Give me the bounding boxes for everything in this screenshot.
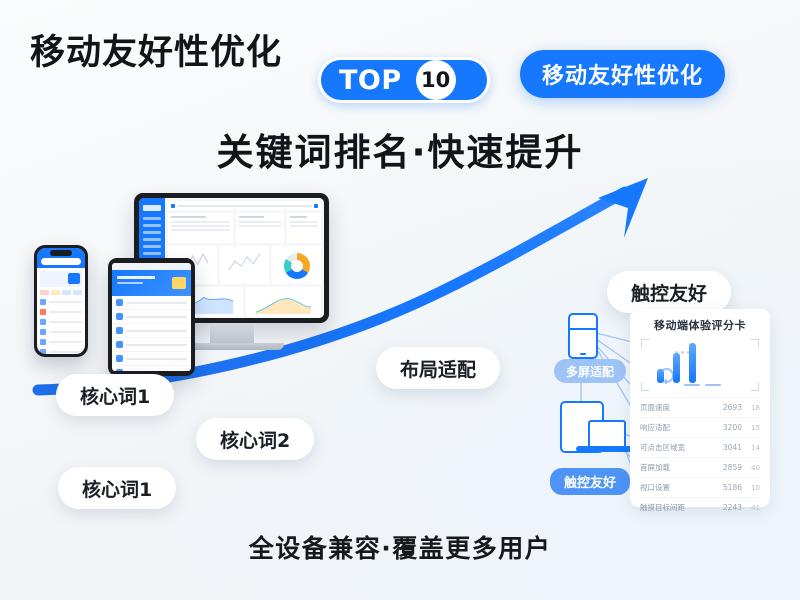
corner-bracket-icon (750, 382, 759, 391)
tablet-statusbar (112, 263, 191, 270)
table-row: 首屏加载 2859 40 (639, 457, 761, 477)
scorecard-panel: 移动端体验评分卡 页面速度 2693 (630, 309, 770, 507)
list-icon (40, 329, 46, 335)
diagram-tag-multiscreen: 多屏适配 (554, 359, 626, 383)
list-icon (116, 355, 123, 362)
toolbar-field (177, 205, 312, 207)
phone-tag-row (37, 290, 85, 297)
row-value: 3041 (718, 443, 742, 452)
row-delta: 18 (746, 404, 760, 412)
search-input[interactable] (41, 258, 81, 265)
dashboard-toolbar (168, 201, 321, 210)
monitor-neck (210, 323, 254, 343)
row-label: 响应适配 (640, 422, 714, 433)
row-value: 5186 (718, 483, 742, 492)
keyword-pill-1[interactable]: 核心词1 (56, 374, 174, 416)
chart-baseline (684, 384, 700, 387)
list-item (112, 324, 191, 338)
list-icon (116, 313, 123, 320)
toolbar-dot-icon (171, 204, 175, 208)
tag-chip (51, 290, 60, 295)
footer-tagline: 全设备兼容·覆盖更多用户 (0, 529, 800, 565)
top-badge-number: 10 (416, 60, 456, 100)
toolbar-dot-icon (314, 204, 318, 208)
list-item (37, 347, 85, 354)
sidebar-item (143, 224, 161, 227)
scorecard-table: 页面速度 2693 18 响应适配 3200 15 可点击区域宽 3041 14… (639, 397, 761, 517)
list-item (37, 317, 85, 327)
row-delta: 40 (746, 464, 760, 472)
tag-chip (73, 290, 82, 295)
row-label: 首屏加载 (640, 462, 714, 473)
page-title: 移动友好性优化 (30, 24, 282, 75)
feature-pill-layout[interactable]: 布局适配 (376, 347, 500, 389)
list-item (112, 296, 191, 310)
list-icon (116, 369, 123, 371)
dashboard-card (236, 213, 284, 243)
tag-chip (40, 290, 49, 295)
row-value: 2693 (718, 403, 742, 412)
poster-canvas: 移动友好性优化 TOP 10 移动友好性优化 关键词排名·快速提升 (0, 0, 800, 600)
list-item (112, 310, 191, 324)
table-row: 响应适配 3200 15 (639, 417, 761, 437)
dashboard-area-card (246, 287, 321, 317)
list-icon (40, 349, 46, 354)
tablet-device (108, 258, 195, 376)
kicker-pill: 移动友好性优化 (520, 50, 725, 98)
row-label: 触摸目标间距 (640, 502, 714, 513)
scorecard-chart (639, 339, 761, 391)
donut-chart (284, 253, 310, 279)
sidebar-item (143, 238, 161, 241)
sidebar-item (143, 231, 161, 234)
keyword-pill-3[interactable]: 核心词1 (58, 467, 176, 509)
tag-chip (62, 290, 71, 295)
chart-bar (689, 343, 696, 383)
table-row: 视口设置 5186 10 (639, 477, 761, 497)
diagram-phone-icon (568, 313, 598, 359)
list-item (112, 366, 191, 371)
list-icon (40, 339, 46, 345)
dashboard-card (168, 213, 233, 243)
top-badge-word: TOP (321, 65, 416, 96)
list-item (37, 297, 85, 307)
chart-bars (657, 343, 747, 383)
row-delta: 10 (746, 484, 760, 492)
row-value: 2859 (718, 463, 742, 472)
list-icon (40, 299, 46, 305)
dashboard-card-row (168, 213, 321, 243)
corner-bracket-icon (641, 339, 650, 348)
scorecard-title: 移动端体验评分卡 (639, 317, 761, 333)
hero-badge-icon (172, 277, 186, 289)
list-item (37, 327, 85, 337)
table-row: 触摸目标间距 2243 41 (639, 497, 761, 517)
table-row: 页面速度 2693 18 (639, 397, 761, 417)
dashboard-donut-card (272, 246, 321, 284)
row-value: 3200 (718, 423, 742, 432)
device-mockups (26, 193, 346, 393)
row-label: 视口设置 (640, 482, 714, 493)
list-item (37, 337, 85, 347)
row-delta: 41 (746, 504, 760, 512)
list-icon (40, 319, 46, 325)
list-icon (116, 341, 123, 348)
monitor-foot (180, 343, 284, 350)
sidebar-item (143, 217, 161, 220)
keyword-pill-2[interactable]: 核心词2 (196, 418, 314, 460)
thumbnail-icon (68, 273, 80, 284)
chart-bar (673, 353, 680, 383)
dashboard-chart-card (220, 246, 269, 284)
tablet-hero-banner (112, 270, 191, 296)
tablet-screen (112, 263, 191, 371)
list-icon (116, 299, 123, 306)
chart-bar (657, 369, 664, 383)
list-item (37, 307, 85, 317)
list-item (112, 338, 191, 352)
list-item (112, 352, 191, 366)
top-rank-badge: TOP 10 (318, 57, 490, 103)
list-icon (40, 309, 46, 315)
dashboard-card (287, 213, 321, 243)
row-label: 页面速度 (640, 402, 714, 413)
list-icon (116, 327, 123, 334)
row-value: 2243 (718, 503, 742, 512)
sidebar-item (143, 252, 161, 255)
chart-baseline (705, 384, 721, 387)
table-row: 可点击区域宽 3041 14 (639, 437, 761, 457)
phone-screen (37, 248, 85, 354)
phone-promo-card (40, 271, 82, 287)
row-delta: 14 (746, 444, 760, 452)
diagram-tag-touch: 触控友好 (550, 468, 630, 495)
diagram-laptop-base (576, 446, 634, 452)
phone-notch (50, 250, 72, 256)
dashboard-logo (143, 205, 161, 211)
row-delta: 15 (746, 424, 760, 432)
sidebar-item (143, 245, 161, 248)
row-label: 可点击区域宽 (640, 442, 714, 453)
phone-device (34, 245, 88, 357)
corner-bracket-icon (750, 339, 759, 348)
corner-bracket-icon (641, 382, 650, 391)
compatibility-diagram: 多屏适配 触控友好 移动端体验评分卡 (540, 305, 775, 510)
